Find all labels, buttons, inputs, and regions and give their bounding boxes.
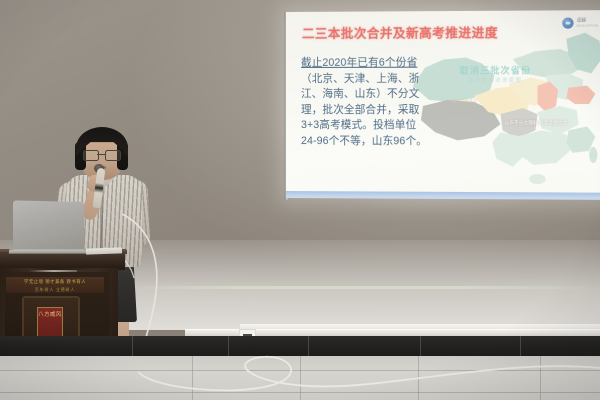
baseboard-seam [520,336,521,358]
slide-body-line-2: （北京、天津、上海、浙 [301,71,432,87]
presentation-photo: 二三本批次合并及新高考推进进度 卓越 EDUCATION [0,0,600,400]
baseboard-seam [228,336,229,358]
laptop-keyboard-base[interactable] [9,249,94,253]
baseboard-seam [308,336,309,358]
map-annotation-shandong: 山东不分文理科 批次全部合并 [505,120,568,126]
baseboard [0,336,600,358]
baseboard-seam [132,336,133,358]
china-map-svg [407,22,600,195]
glasses-lens-right [105,150,121,161]
map-caption-sub: 新高考推进进度图 [460,77,532,84]
map-annotation-center: 部分省份试点 [451,98,477,104]
papers-on-podium [86,247,122,254]
podium-banner: 学无止境 德才兼备 教书育人 百年树人 立德树人 [6,277,104,293]
slide-body-line-6: 24-96个不等，山东96个。 [301,134,432,150]
tiled-floor [0,356,600,400]
floor-tile-line [540,356,541,400]
map-caption: 取消三批次省份 新高考推进进度图 [460,63,532,83]
floor-tile-line [192,356,193,400]
china-map-graphic: 取消三批次省份 新高考推进进度图 山东不分文理科 批次全部合并 部分省份试点 [407,22,600,195]
slide-body-line-4: 理，批次全部合并，采取 [301,103,432,119]
floor-tile-line [418,356,419,400]
map-caption-main: 取消三批次省份 [460,63,532,76]
projected-slide: 二三本批次合并及新高考推进进度 卓越 EDUCATION [286,10,600,200]
slide-body-text: 截止2020年已有6个份省 （北京、天津、上海、浙 江、海南、山东）不分文 理，… [301,56,432,150]
slide-body-line-5: 3+3高考模式。投档单位 [301,118,432,134]
slide-body-line-3: 江、海南、山东）不分文 [301,87,432,103]
glasses-bridge [97,154,105,155]
glasses-lens-left [83,150,99,161]
baseboard-seam [420,336,421,358]
podium-banner-line-1: 学无止境 德才兼备 教书育人 [6,278,104,286]
slide-body-line-1: 截止2020年已有6个份省 [301,56,432,72]
apple-logo-icon [42,219,55,233]
laptop-lid[interactable] [13,200,84,250]
wall-light-strip [120,286,600,289]
podium-banner-line-2: 百年树人 立德树人 [6,286,104,294]
glasses-icon [83,150,121,160]
floor-tile-line [300,356,301,400]
